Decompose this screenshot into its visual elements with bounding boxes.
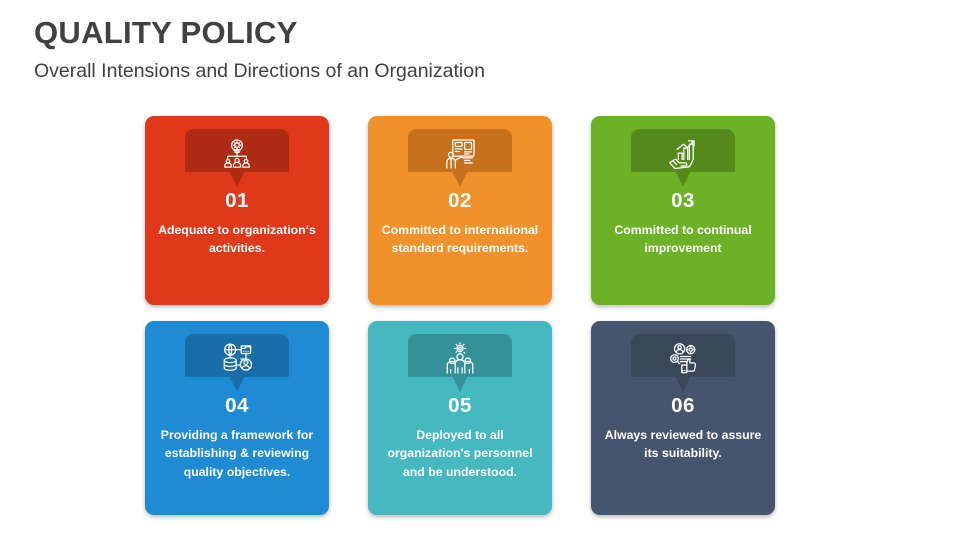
policy-card-05[interactable]: 05 Deployed to all organization's person…	[368, 321, 552, 515]
lightbulb-gear-team-icon	[220, 137, 254, 171]
card-text-05: Deployed to all organization's personnel…	[368, 426, 552, 482]
card-number-06: 06	[671, 396, 695, 417]
page-subtitle: Overall Intensions and Directions of an …	[34, 61, 914, 82]
policy-card-grid: 01 Adequate to organization‘s activities…	[145, 116, 817, 515]
policy-card-01[interactable]: 01 Adequate to organization‘s activities…	[145, 116, 329, 305]
card-badge-04	[185, 334, 289, 392]
card-text-01: Adequate to organization‘s activities.	[145, 221, 329, 258]
team-gear-people-icon	[443, 342, 477, 376]
page-title: QUALITY POLICY	[34, 16, 914, 50]
card-text-03: Committed to continual improvement	[591, 221, 775, 258]
card-text-02: Committed to international standard requ…	[368, 221, 552, 258]
card-text-04: Providing a framework for establishing &…	[145, 426, 329, 482]
policy-card-06[interactable]: 06 Always reviewed to assure its suitabi…	[591, 321, 775, 515]
card-text-06: Always reviewed to assure its suitabilit…	[591, 426, 775, 463]
card-number-05: 05	[448, 396, 472, 417]
card-number-04: 04	[225, 396, 249, 417]
card-badge-06	[631, 334, 735, 392]
card-badge-02	[408, 129, 512, 187]
card-number-03: 03	[671, 191, 695, 212]
review-thumbsup-icon	[666, 342, 700, 376]
card-badge-05	[408, 334, 512, 392]
presentation-training-icon	[443, 137, 477, 171]
card-badge-03	[631, 129, 735, 187]
slide-header: QUALITY POLICY Overall Intensions and Di…	[34, 16, 914, 83]
slide-canvas: QUALITY POLICY Overall Intensions and Di…	[0, 0, 960, 540]
policy-card-02[interactable]: 02 Committed to international standard r…	[368, 116, 552, 305]
card-number-02: 02	[448, 191, 472, 212]
policy-card-03[interactable]: 03 Committed to continual improvement	[591, 116, 775, 305]
network-database-globe-icon	[220, 342, 254, 376]
policy-card-04[interactable]: 04 Providing a framework for establishin…	[145, 321, 329, 515]
hand-growth-chart-icon	[666, 137, 700, 171]
card-badge-01	[185, 129, 289, 187]
card-number-01: 01	[225, 191, 249, 212]
